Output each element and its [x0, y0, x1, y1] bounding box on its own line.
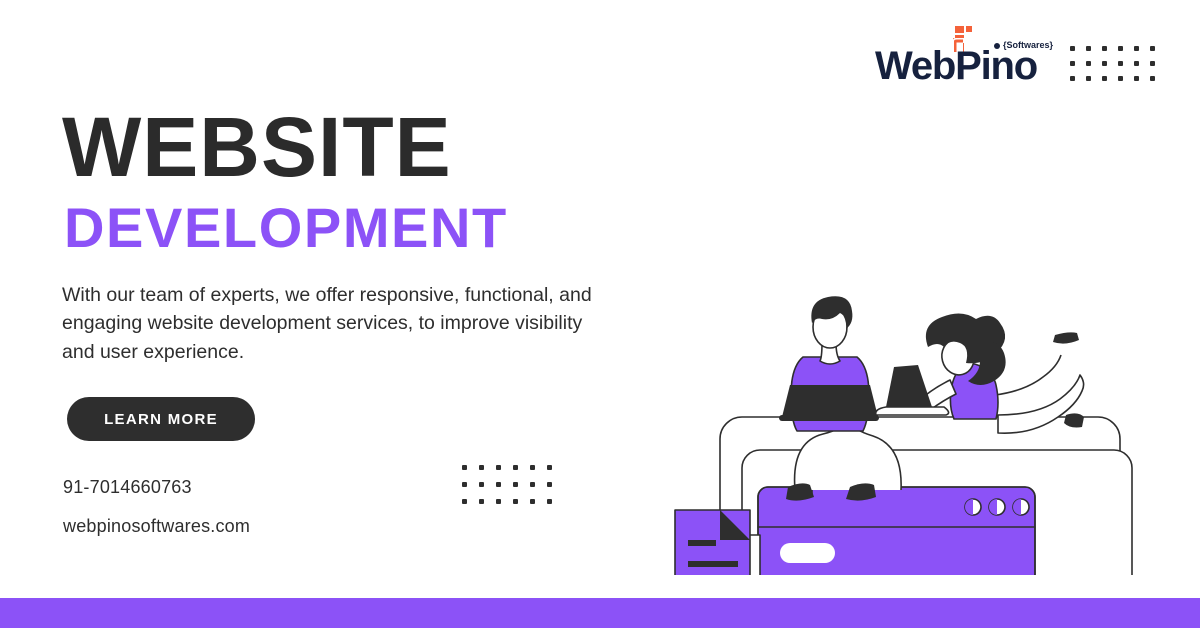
dot-grid-middle [462, 465, 564, 516]
contact-website[interactable]: webpinosoftwares.com [63, 516, 250, 537]
learn-more-button[interactable]: LEARN MORE [67, 397, 255, 441]
bottom-accent-bar [0, 598, 1200, 628]
hero-illustration: .ln { fill:none; stroke:#2e2e2e; stroke-… [640, 95, 1185, 575]
hero-subcopy: With our team of experts, we offer respo… [62, 281, 592, 366]
marketing-banner: {Softwares} WebPino WEBSITE DEVELOPMENT … [0, 0, 1200, 628]
woman-lying-with-laptop [876, 313, 1084, 433]
laptop [779, 385, 879, 421]
person-sitting-with-laptop [779, 296, 901, 500]
contact-phone[interactable]: 91-7014660763 [63, 477, 192, 498]
document-icon [675, 510, 760, 575]
legs [995, 332, 1084, 433]
logo-wordmark: WebPino [875, 46, 1037, 86]
headline-primary: WEBSITE [62, 108, 452, 188]
dot-grid-top-right [1070, 46, 1166, 91]
window-control-dots [965, 499, 1029, 515]
brand-logo[interactable]: {Softwares} WebPino [875, 24, 1060, 86]
headline-secondary: DEVELOPMENT [64, 200, 508, 256]
